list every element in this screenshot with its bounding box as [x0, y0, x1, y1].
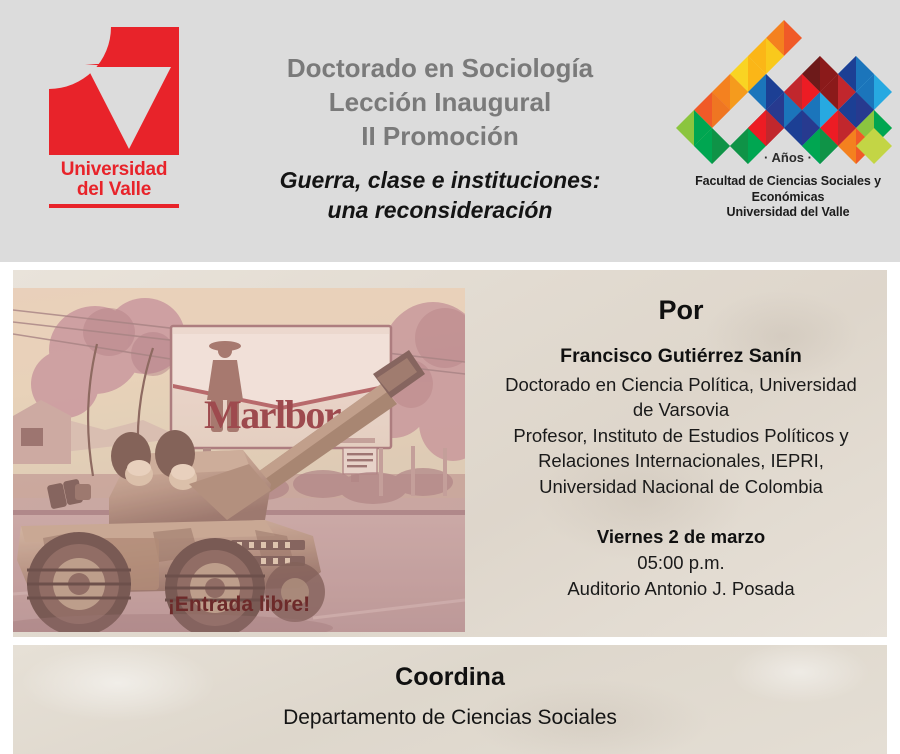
univalle-logo-triangle	[87, 67, 171, 149]
poster-title-block: Doctorado en Sociología Lección Inaugura…	[215, 52, 665, 226]
event-date: Viernes 2 de marzo	[485, 525, 877, 550]
page-title-line-1: Doctorado en Sociología	[215, 52, 665, 86]
footer-panel: Coordina Departamento de Ciencias Social…	[13, 645, 887, 754]
page-title-line-3: II Promoción	[215, 120, 665, 154]
speaker-affiliation-line-4: Relaciones Internacionales, IEPRI,	[485, 448, 877, 474]
event-time: 05:00 p.m.	[485, 550, 877, 576]
univalle-logo: Universidad del Valle	[38, 27, 190, 207]
speaker-affiliation-line-3: Profesor, Instituto de Estudios Político…	[485, 423, 877, 449]
main-panel: Marlboro	[13, 270, 887, 637]
speaker-affiliation-line-5: Universidad Nacional de Colombia	[485, 474, 877, 500]
anniversary-caption-line-2: Universidad del Valle	[676, 205, 900, 221]
event-venue: Auditorio Antonio J. Posada	[485, 576, 877, 602]
speaker-affiliation: Doctorado en Ciencia Política, Universid…	[485, 372, 877, 500]
speaker-name: Francisco Gutiérrez Sanín	[485, 344, 877, 368]
armored-vehicle-marlboro-billboard-photo: Marlboro	[13, 288, 465, 632]
event-poster: Universidad del Valle Doctorado en Socio…	[0, 0, 900, 754]
anniversary-years-label: · Años ·	[764, 150, 812, 165]
univalle-wordmark-line2: del Valle	[38, 180, 190, 200]
anniversary-caption-line-1: Facultad de Ciencias Sociales y Económic…	[676, 174, 900, 205]
sixty-years-anniversary-icon: · Años ·	[676, 16, 900, 168]
poster-header: Universidad del Valle Doctorado en Socio…	[0, 0, 900, 262]
univalle-logo-underline	[49, 204, 179, 208]
speaker-affiliation-line-1: Doctorado en Ciencia Política, Universid…	[485, 372, 877, 398]
speaker-affiliation-line-2: de Varsovia	[485, 397, 877, 423]
univalle-logo-wordmark: Universidad del Valle	[38, 160, 190, 200]
lecture-subtitle: Guerra, clase e instituciones: una recon…	[215, 166, 665, 226]
event-details: Por Francisco Gutiérrez Sanín Doctorado …	[475, 270, 887, 637]
lecture-subtitle-line-2: una reconsideración	[215, 196, 665, 226]
coordina-heading: Coordina	[13, 645, 887, 692]
anniversary-logo: · Años · Facultad de Ciencias Sociales y…	[676, 16, 900, 206]
anniversary-logo-caption: Facultad de Ciencias Sociales y Económic…	[676, 174, 900, 221]
by-label: Por	[485, 294, 877, 326]
univalle-shield-icon	[49, 27, 179, 155]
coordina-organizer: Departamento de Ciencias Sociales	[13, 706, 887, 730]
lecture-subtitle-line-1: Guerra, clase e instituciones:	[215, 166, 665, 196]
univalle-wordmark-line1: Universidad	[38, 160, 190, 180]
page-title-line-2: Lección Inaugural	[215, 86, 665, 120]
photo-illustration: Marlboro	[13, 288, 465, 632]
free-entry-label: ¡Entrada libre!	[13, 593, 465, 617]
